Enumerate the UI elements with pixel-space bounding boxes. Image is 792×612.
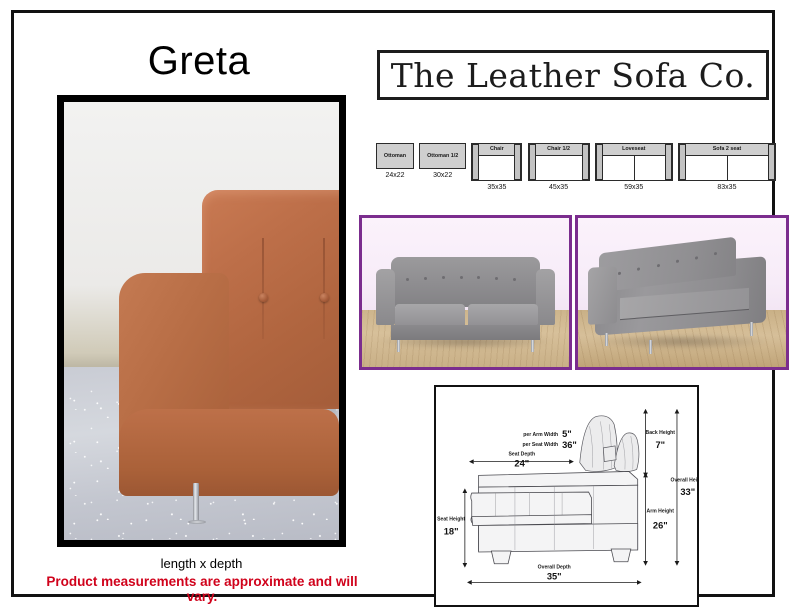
seat-height-value: 18" [444, 526, 459, 536]
size-chart-label: Ottoman [384, 153, 406, 159]
glyph-seat [603, 155, 665, 180]
sofa-base [391, 325, 540, 340]
sofa-arm-right [536, 269, 555, 326]
seat-height-label: Seat Height [437, 517, 465, 523]
overall-depth-label: Overall Depth [538, 565, 571, 571]
size-chart-label: Loveseat [622, 144, 645, 155]
measurement-disclaimer: Product measurements are approximate and… [32, 574, 372, 604]
size-chart-glyph: Loveseat [595, 143, 673, 181]
sofa-cushion-right [468, 304, 538, 327]
page-frame: Greta length x depth Product measurement… [11, 10, 775, 597]
per-arm-width-label: per Arm Width [523, 432, 558, 438]
size-chart-dimensions: 59x35 [624, 184, 643, 191]
brand-logo: The Leather Sofa Co. [377, 50, 769, 100]
size-chart-item: Chair35x35 [471, 143, 522, 191]
back-height-value: 7" [655, 440, 665, 450]
per-arm-width-value: 5" [562, 429, 572, 439]
glyph-arm-left [679, 144, 686, 180]
glyph-seat [686, 155, 768, 180]
sofa-front-view-photo [359, 215, 572, 370]
seat-depth-label: Seat Depth [509, 452, 536, 458]
arm-height-label: Arm Height [647, 509, 675, 515]
sofa-leg-back-right [750, 322, 753, 335]
back-height-label-1: Back Height [646, 430, 676, 436]
chair-leg [193, 483, 199, 522]
per-seat-width-value: 36" [562, 440, 577, 450]
size-chart-dimensions: 83x35 [717, 184, 736, 191]
sofa-photo-gallery [359, 215, 789, 370]
glyph-arm-left [596, 144, 603, 180]
overall-depth-value: 35" [547, 571, 562, 581]
glyph-arm-right [514, 144, 521, 180]
dimension-diagram: per Arm Width 5" per Seat Width 36" Seat… [434, 385, 699, 607]
sofa-leg-front-right [649, 340, 652, 353]
page-title: Greta [44, 41, 354, 81]
sofa-cushion-left [395, 304, 465, 327]
sofa-backrest [391, 257, 540, 308]
hero-product-photo [57, 95, 346, 547]
size-chart-item: Ottoman24x22 [376, 143, 414, 179]
glyph-seat [536, 155, 582, 180]
size-chart-dimensions: 30x22 [433, 172, 452, 179]
size-chart-glyph: Ottoman 1/2 [419, 143, 466, 169]
size-chart-label: Chair [490, 144, 504, 155]
overall-height-label: Overall Height [671, 477, 697, 483]
size-chart-label: Chair 1/2 [547, 144, 570, 155]
glyph-seat [479, 155, 514, 180]
sofa-arm-left [588, 266, 617, 324]
size-chart-label: Sofa 2 seat [713, 144, 741, 155]
size-chart-item: Ottoman 1/230x22 [419, 143, 466, 179]
size-chart-glyph: Chair 1/2 [528, 143, 590, 181]
size-chart-item: Chair 1/245x35 [528, 143, 590, 191]
size-chart-item: Loveseat59x35 [595, 143, 673, 191]
glyph-arm-right [665, 144, 672, 180]
brand-logo-text: The Leather Sofa Co. [391, 59, 756, 92]
panel-shadow [595, 334, 770, 349]
seat-depth-value: 24" [514, 459, 529, 469]
size-chart-glyph: Sofa 2 seat [678, 143, 776, 181]
glyph-seat-divider [634, 156, 635, 180]
arm-height-value: 26" [653, 520, 668, 530]
size-chart-glyph: Ottoman [376, 143, 414, 169]
size-chart-dimensions: 45x35 [549, 184, 568, 191]
glyph-arm-left [529, 144, 536, 180]
overall-height-value: 33" [680, 487, 695, 497]
size-chart-dimensions: 24x22 [385, 172, 404, 179]
size-chart-glyph: Chair [471, 143, 522, 181]
sofa-angle-view-photo [575, 215, 789, 370]
size-chart: Ottoman24x22Ottoman 1/230x22Chair35x35Ch… [376, 143, 776, 199]
glyph-arm-right [582, 144, 589, 180]
glyph-arm-right [768, 144, 775, 180]
per-seat-width-label: per Seat Width [523, 442, 559, 448]
glyph-arm-left [472, 144, 479, 180]
sofa-leg-right [531, 340, 534, 352]
chair-seat [119, 409, 339, 497]
size-chart-dimensions: 35x35 [487, 184, 506, 191]
caption-length-depth: length x depth [44, 556, 359, 571]
glyph-seat-divider [727, 156, 728, 180]
size-chart-label: Ottoman 1/2 [427, 153, 458, 159]
sofa-leg-front-left [605, 333, 608, 346]
sofa-arm-left [376, 269, 395, 326]
sofa-leg-left [397, 340, 400, 352]
size-chart-item: Sofa 2 seat83x35 [678, 143, 776, 191]
